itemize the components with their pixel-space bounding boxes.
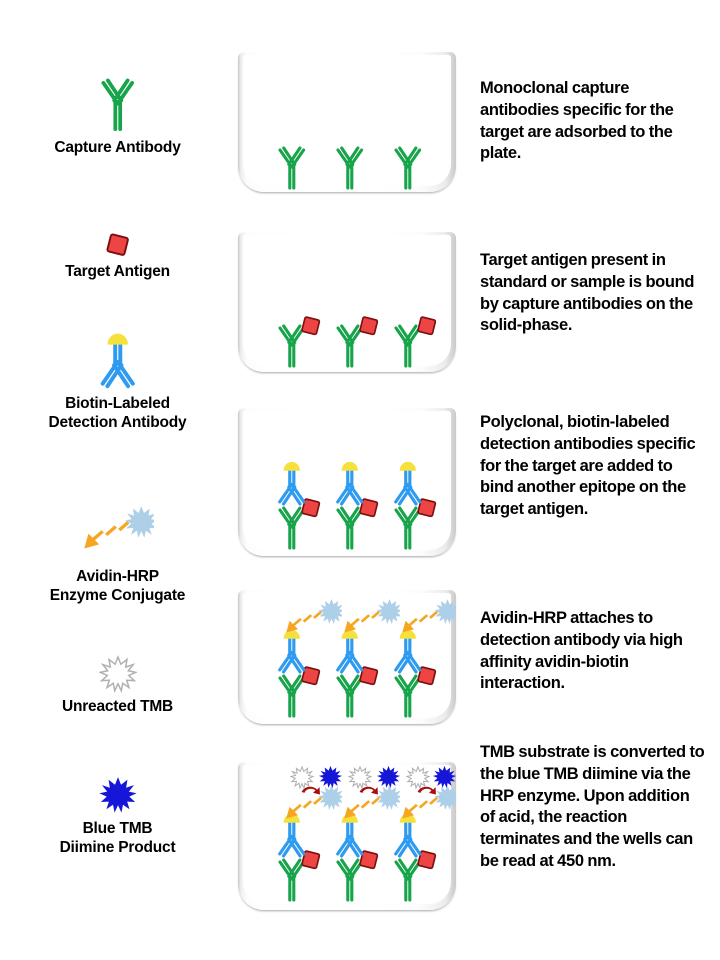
target-antigen-icon xyxy=(300,315,322,337)
legend-item-avidin-hrp: Avidin-HRP Enzyme Conjugate xyxy=(0,505,235,606)
avidin-hrp-icon xyxy=(400,598,456,644)
legend-item-target-antigen: Target Antigen xyxy=(0,232,235,281)
legend-item-unreacted-tmb: Unreacted TMB xyxy=(0,655,235,716)
step-description-1: Monoclonal capture antibodies specific f… xyxy=(480,78,708,165)
legend-label-unreacted-tmb: Unreacted TMB xyxy=(0,697,235,716)
target-antigen-icon xyxy=(358,315,380,337)
legend-label-capture-antibody: Capture Antibody xyxy=(0,138,235,157)
blue-tmb-icon xyxy=(318,765,343,789)
legend-label-blue-tmb: Blue TMB Diimine Product xyxy=(0,819,235,858)
blue-tmb-icon xyxy=(432,765,456,789)
legend-label-detection-antibody: Biotin-Labeled Detection Antibody xyxy=(0,394,235,433)
detection-antibody-icon xyxy=(328,459,372,507)
legend-label-target-antigen: Target Antigen xyxy=(0,262,235,281)
blue-tmb-icon xyxy=(98,775,138,815)
well-molecules xyxy=(238,408,456,556)
well-molecules xyxy=(238,232,456,372)
target-antigen-icon xyxy=(416,315,438,337)
well-molecules xyxy=(238,762,456,910)
unreacted-tmb-icon xyxy=(99,655,137,693)
blue-tmb-icon xyxy=(376,765,401,789)
capture-antibody-icon xyxy=(328,146,372,192)
step-description-5: TMB substrate is converted to the blue T… xyxy=(480,742,708,873)
legend-item-detection-antibody: Biotin-Labeled Detection Antibody xyxy=(0,330,235,433)
detection-antibody-icon xyxy=(386,459,430,507)
capture-antibody-icon xyxy=(95,78,141,134)
detection-antibody-icon xyxy=(270,459,314,507)
detection-antibody-icon xyxy=(94,330,142,390)
step-description-2: Target antigen present in standard or sa… xyxy=(480,250,708,337)
well-avidin-hrp xyxy=(238,590,456,724)
capture-antibody-icon xyxy=(270,146,314,192)
well-tmb-reaction xyxy=(238,762,456,910)
well-molecules xyxy=(238,590,456,724)
target-antigen-icon xyxy=(105,232,131,258)
capture-antibody-icon xyxy=(386,146,430,192)
well-molecules xyxy=(238,52,456,192)
avidin-hrp-icon xyxy=(82,505,154,563)
step-description-4: Avidin-HRP attaches to detection antibod… xyxy=(480,608,708,695)
well-antigen-bound xyxy=(238,232,456,372)
legend-item-capture-antibody: Capture Antibody xyxy=(0,78,235,157)
legend-item-blue-tmb: Blue TMB Diimine Product xyxy=(0,775,235,858)
well-detection-antibody xyxy=(238,408,456,556)
step-description-3: Polyclonal, biotin-labeled detection ant… xyxy=(480,412,708,521)
legend-label-avidin-hrp: Avidin-HRP Enzyme Conjugate xyxy=(0,567,235,606)
elisa-diagram: { "diagram": { "title": "Sandwich ELISA … xyxy=(0,0,720,960)
well-capture-antibody xyxy=(238,52,456,192)
